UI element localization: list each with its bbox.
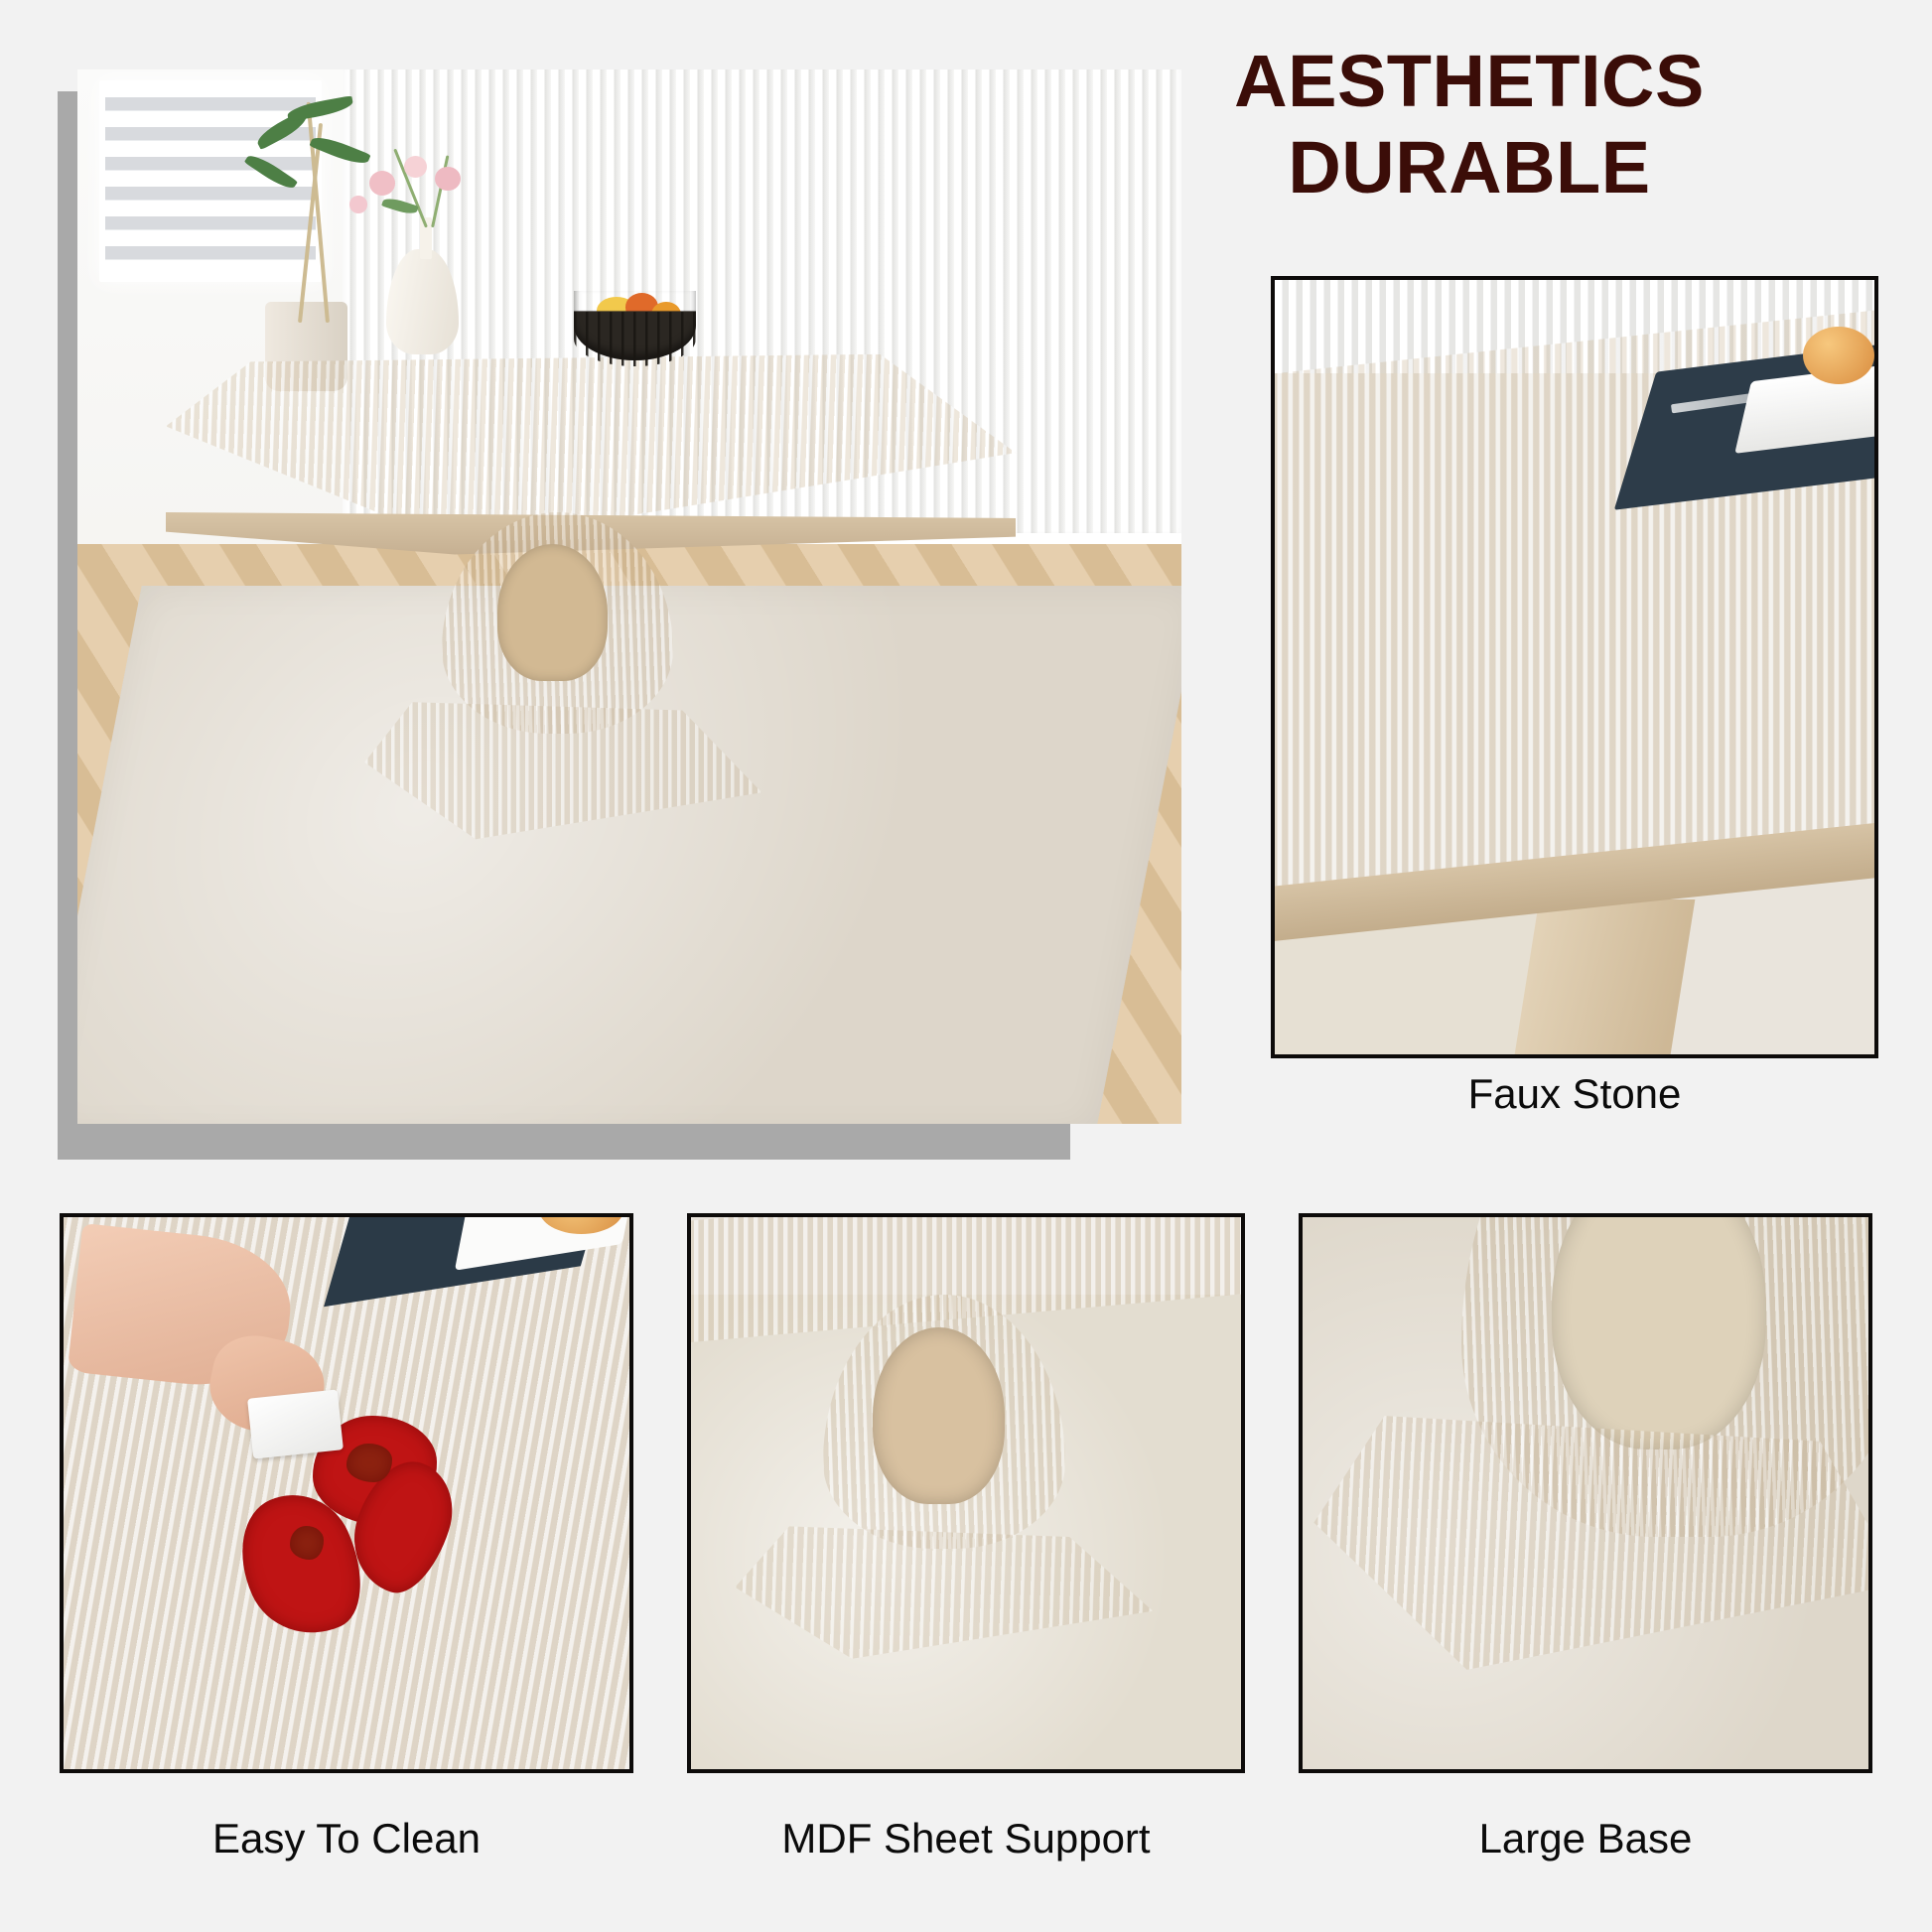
panel-easy-to-clean-image <box>60 1213 633 1773</box>
hero-lifestyle-image <box>77 69 1181 1124</box>
caption-mdf-sheet-support: MDF Sheet Support <box>687 1815 1245 1863</box>
hero-flower <box>435 167 461 191</box>
faux-table-leg <box>1514 899 1695 1054</box>
panel-large-base-image <box>1299 1213 1872 1773</box>
hero-pedestal-cutout <box>497 544 608 681</box>
base-arc-cutout <box>1552 1213 1767 1449</box>
mdf-pedestal-cutout <box>873 1327 1005 1504</box>
caption-large-base: Large Base <box>1299 1815 1872 1863</box>
faux-bread <box>1803 327 1874 385</box>
caption-easy-to-clean: Easy To Clean <box>60 1815 633 1863</box>
panel-mdf-sheet-support-image <box>687 1213 1245 1773</box>
clean-cloth <box>247 1389 344 1458</box>
clean-sauce-spot <box>346 1444 392 1482</box>
clean-sauce-spot <box>290 1526 324 1559</box>
caption-faux-stone: Faux Stone <box>1271 1070 1878 1118</box>
panel-faux-stone-image <box>1271 276 1878 1058</box>
